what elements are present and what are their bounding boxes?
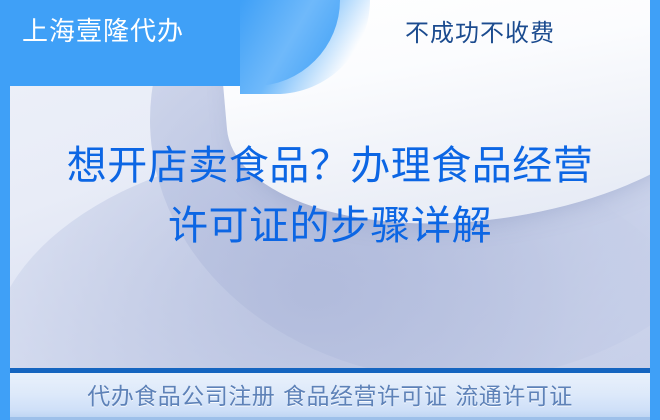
footer-keywords: 代办食品公司注册 食品经营许可证 流通许可证 bbox=[87, 383, 573, 411]
left-blue-rail bbox=[0, 0, 10, 420]
right-blue-rail bbox=[650, 0, 660, 420]
page-title: 想开店卖食品？办理食品经营 许可证的步骤详解 bbox=[10, 136, 650, 256]
poster-root: 上海壹隆代办 不成功不收费 想开店卖食品？办理食品经营 许可证的步骤详解 代办食… bbox=[0, 0, 660, 420]
page-title-line-1: 想开店卖食品？办理食品经营 bbox=[10, 136, 650, 196]
tagline: 不成功不收费 bbox=[330, 18, 630, 48]
page-title-line-2: 许可证的步骤详解 bbox=[10, 196, 650, 256]
brand-name: 上海壹隆代办 bbox=[22, 16, 184, 48]
footer-keyword-bar: 代办食品公司注册 食品经营许可证 流通许可证 bbox=[10, 368, 650, 420]
